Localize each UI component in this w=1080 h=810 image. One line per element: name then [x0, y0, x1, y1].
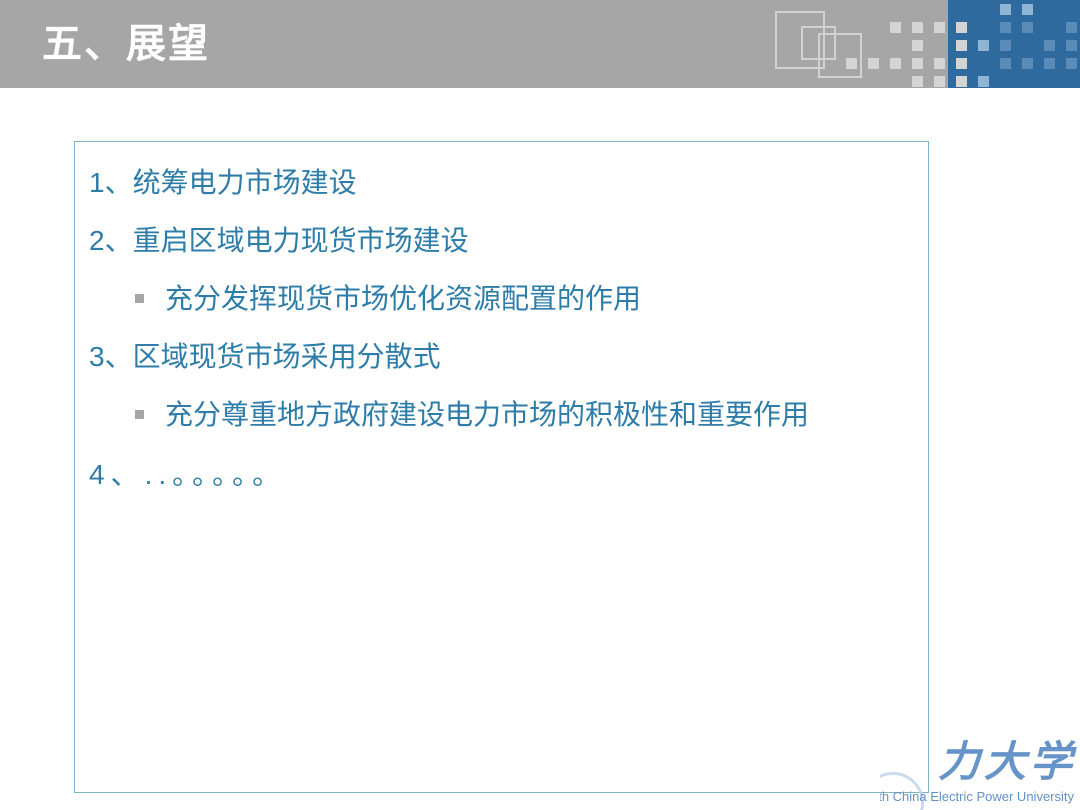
decorative-square [978, 40, 989, 51]
decorative-square [846, 58, 857, 69]
decorative-square [912, 76, 923, 87]
decorative-square [890, 22, 901, 33]
decorative-square [868, 58, 879, 69]
decorative-square-grid [860, 8, 1080, 84]
square-bullet-icon [135, 294, 144, 303]
content-box: 1、统筹电力市场建设 2、重启区域电力现货市场建设 充分发挥现货市场优化资源配置… [74, 141, 929, 793]
decorative-square [1044, 58, 1055, 69]
decorative-square [1022, 4, 1033, 15]
decorative-square [956, 76, 967, 87]
list-item-sub-label: 充分发挥现货市场优化资源配置的作用 [165, 283, 641, 314]
decorative-square [1000, 4, 1011, 15]
decorative-square [1044, 40, 1055, 51]
decorative-square [1022, 58, 1033, 69]
decorative-square [934, 58, 945, 69]
header-underline [0, 88, 1080, 90]
list-item: 2、重启区域电力现货市场建设 [75, 224, 928, 258]
decorative-square [1000, 40, 1011, 51]
decorative-square [912, 40, 923, 51]
decorative-square [1022, 22, 1033, 33]
decorative-square [1066, 22, 1077, 33]
page-title: 五、展望 [42, 18, 210, 70]
decorative-square [1066, 40, 1077, 51]
decorative-square [1066, 58, 1077, 69]
list-item-sub: 充分尊重地方政府建设电力市场的积极性和重要作用 [75, 398, 928, 432]
decorative-square [956, 58, 967, 69]
decorative-square [934, 22, 945, 33]
square-bullet-icon [135, 410, 144, 419]
decorative-square [956, 40, 967, 51]
decorative-square [978, 76, 989, 87]
list-item-ellipsis: 4、..。。。。。 [75, 458, 928, 492]
list-item: 1、统筹电力市场建设 [75, 166, 928, 200]
decorative-square [912, 58, 923, 69]
list-item-sub: 充分发挥现货市场优化资源配置的作用 [75, 282, 928, 316]
decorative-square [934, 76, 945, 87]
slide-header: 五、展望 [0, 0, 1080, 88]
decorative-rectangle-outline-3 [818, 33, 862, 78]
decorative-square [956, 22, 967, 33]
decorative-square [1000, 22, 1011, 33]
list-item-sub-label: 充分尊重地方政府建设电力市场的积极性和重要作用 [165, 399, 809, 430]
decorative-square [912, 22, 923, 33]
decorative-square [1000, 58, 1011, 69]
decorative-square [890, 58, 901, 69]
bullet-list: 1、统筹电力市场建设 2、重启区域电力现货市场建设 充分发挥现货市场优化资源配置… [75, 142, 928, 492]
logo-chinese-name: 力大学 [938, 728, 1076, 789]
list-item: 3、区域现货市场采用分散式 [75, 340, 928, 374]
